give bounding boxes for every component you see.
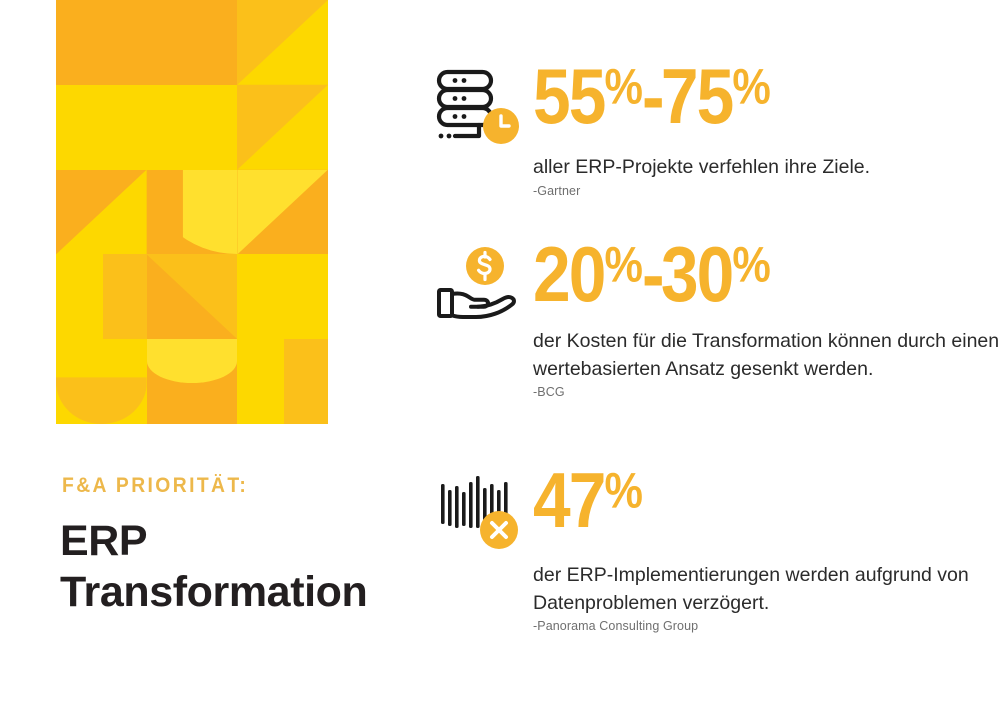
- stat-block: 55%-75% aller ERP-Projekte verfehlen ihr…: [425, 62, 1000, 158]
- art-shape-triangle: [147, 254, 238, 339]
- stat-value-from: 47: [533, 458, 605, 544]
- stat-description: aller ERP-Projekte verfehlen ihre Ziele.: [533, 154, 1000, 182]
- art-tile-r3c2: [147, 170, 238, 255]
- stat-body: der ERP-Implementierungen werden aufgrun…: [533, 562, 1000, 633]
- stat-value: 55%-75%: [533, 58, 770, 136]
- art-tile-r4c3: [237, 254, 328, 339]
- stat-body: der Kosten für die Transformation können…: [533, 328, 1000, 399]
- stat-value-from: 20: [533, 232, 605, 318]
- stat-description: der ERP-Implementierungen werden aufgrun…: [533, 562, 1000, 617]
- art-tile-r4c2: [147, 254, 238, 339]
- stat-header: 20%-30%: [425, 240, 1000, 336]
- art-shape-half-circle: [147, 170, 238, 255]
- percent-sign: %: [605, 236, 643, 292]
- art-shape-square: [103, 254, 147, 339]
- art-tile-r2c1: [56, 85, 147, 170]
- stat-value-to: 75: [661, 54, 733, 140]
- stat-value-to: 30: [661, 232, 733, 318]
- art-tile-r1c1: [56, 0, 147, 85]
- art-shape-triangle: [237, 85, 328, 170]
- art-tile-r1c2: [147, 0, 238, 85]
- barcode-error-icon: [433, 468, 529, 564]
- stat-header: 55%-75%: [425, 62, 1000, 158]
- art-bottom-band: [56, 339, 328, 424]
- hand-holding-coin-icon: [433, 236, 529, 332]
- art-shape-triangle: [237, 0, 328, 85]
- statistics-column: 55%-75% aller ERP-Projekte verfehlen ihr…: [425, 0, 1000, 705]
- stat-value: 47%: [533, 462, 642, 540]
- server-stack-clock-icon: [433, 62, 529, 158]
- stat-source: -Gartner: [533, 184, 1000, 198]
- stat-value-from: 55: [533, 54, 605, 140]
- stat-header: 47%: [425, 466, 1000, 562]
- art-tile-r1c3: [237, 0, 328, 85]
- art-shape-circle-bottom: [56, 339, 147, 424]
- headline-line-1: ERP: [60, 516, 410, 567]
- left-column: F&A PRIORITÄT: ERP Transformation: [0, 0, 420, 705]
- percent-sign: %: [732, 236, 770, 292]
- stat-source: -BCG: [533, 385, 1000, 399]
- art-tile-r2c3: [237, 85, 328, 170]
- geometric-yellow-pattern-artwork: [56, 0, 328, 424]
- percent-sign: %: [732, 58, 770, 114]
- stat-source: -Panorama Consulting Group: [533, 619, 1000, 633]
- stat-block: 20%-30% der Kosten für die Transformatio…: [425, 240, 1000, 336]
- range-dash: -: [642, 232, 661, 318]
- range-dash: -: [642, 54, 661, 140]
- page-title: ERP Transformation: [60, 516, 410, 617]
- art-shape-triangle: [237, 170, 328, 255]
- headline-line-2: Transformation: [60, 567, 410, 618]
- stat-value: 20%-30%: [533, 236, 770, 314]
- art-shape-triangle: [56, 170, 147, 255]
- eyebrow-label: F&A PRIORITÄT:: [62, 474, 248, 498]
- art-tile-r4c1: [56, 254, 147, 339]
- art-tile-r3c3: [237, 170, 328, 255]
- percent-sign: %: [605, 462, 643, 518]
- stat-body: aller ERP-Projekte verfehlen ihre Ziele.…: [533, 154, 1000, 198]
- art-tile-r3c1: [56, 170, 147, 255]
- stat-description: der Kosten für die Transformation können…: [533, 328, 1000, 383]
- stat-block: 47% der ERP-Implementierungen werden auf…: [425, 466, 1000, 562]
- percent-sign: %: [605, 58, 643, 114]
- art-tile-r2c2: [147, 85, 238, 170]
